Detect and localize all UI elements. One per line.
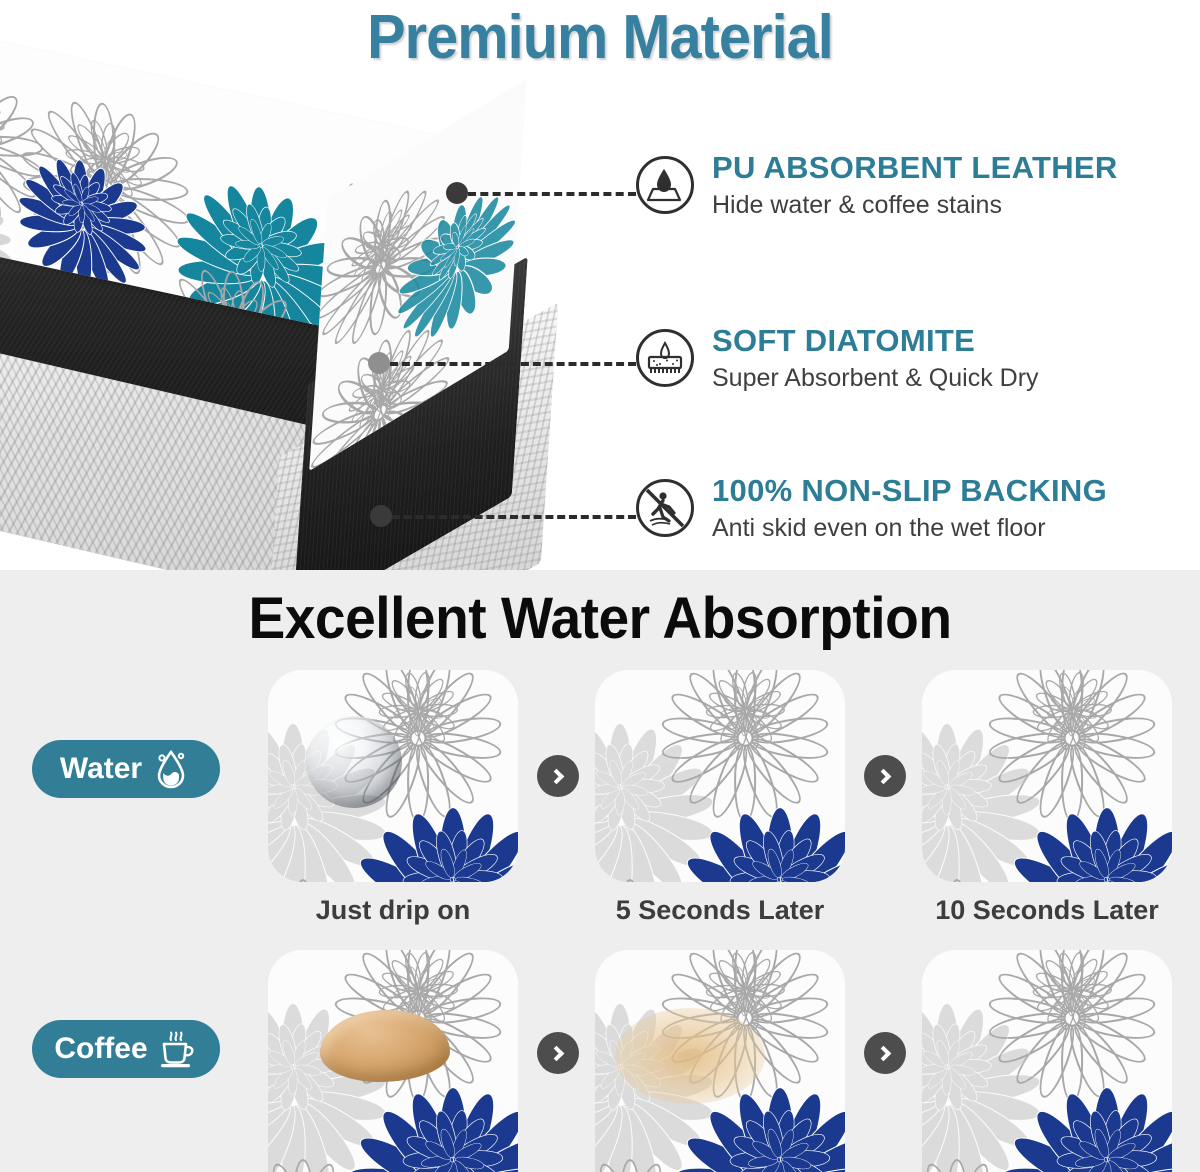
layered-mat-photo xyxy=(0,85,630,550)
water-tile-1 xyxy=(268,670,518,882)
coffee-tile-2 xyxy=(595,950,845,1172)
connector-line-diatomite xyxy=(390,362,636,366)
dahlia-flower xyxy=(673,708,846,883)
water-badge: Water xyxy=(32,740,220,798)
connector-dot-diatomite xyxy=(368,352,390,374)
feature-heading: SOFT DIATOMITE xyxy=(712,325,1039,358)
mat-pattern xyxy=(922,670,1172,882)
coffee-cup-icon xyxy=(156,1028,198,1070)
chevron-right-icon-1 xyxy=(537,755,579,797)
dahlia-flower xyxy=(13,85,147,244)
feature-heading: PU ABSORBENT LEATHER xyxy=(712,152,1118,185)
water-tile-3 xyxy=(922,670,1172,882)
water-badge-label: Water xyxy=(60,754,142,784)
feature-subtitle: Hide water & coffee stains xyxy=(712,192,1118,220)
coffee-badge-label: Coffee xyxy=(54,1034,147,1064)
chevron-right-icon-3 xyxy=(537,1032,579,1074)
connector-dot-backing xyxy=(370,505,392,527)
mat-pattern xyxy=(595,670,845,882)
mat-pattern xyxy=(922,950,1172,1172)
coffee-stain-residue xyxy=(615,1008,765,1104)
premium-material-section: Premium Material PU ABSORBENT LEATHER Hi… xyxy=(0,0,1200,570)
water-drop-on-mat-icon xyxy=(636,156,694,214)
no-slip-person-icon xyxy=(636,479,694,537)
dahlia-flower xyxy=(1000,988,1173,1172)
feature-soft-diatomite: SOFT DIATOMITE Super Absorbent & Quick D… xyxy=(636,325,1039,392)
connector-dot-leather xyxy=(446,182,468,204)
dahlia-flower xyxy=(1000,708,1173,883)
water-absorption-section: Excellent Water Absorption Water Coffee xyxy=(0,570,1200,1172)
water-caption-3: 10 Seconds Later xyxy=(917,895,1177,926)
feature-heading: 100% NON-SLIP BACKING xyxy=(712,475,1107,508)
water-tile-2 xyxy=(595,670,845,882)
water-drop-icon xyxy=(150,748,192,790)
water-caption-2: 5 Seconds Later xyxy=(590,895,850,926)
coffee-badge: Coffee xyxy=(32,1020,220,1078)
chevron-right-icon-2 xyxy=(864,755,906,797)
connector-line-backing xyxy=(392,515,636,519)
connector-line-leather xyxy=(468,192,636,196)
premium-material-title: Premium Material xyxy=(42,2,1158,73)
feature-pu-absorbent-leather: PU ABSORBENT LEATHER Hide water & coffee… xyxy=(636,152,1118,219)
water-bead xyxy=(306,716,402,808)
coffee-tile-1 xyxy=(268,950,518,1172)
absorption-title: Excellent Water Absorption xyxy=(30,585,1170,652)
coffee-tile-3 xyxy=(922,950,1172,1172)
feature-non-slip-backing: 100% NON-SLIP BACKING Anti skid even on … xyxy=(636,475,1107,542)
feature-subtitle: Super Absorbent & Quick Dry xyxy=(712,365,1039,393)
feature-subtitle: Anti skid even on the wet floor xyxy=(712,515,1107,543)
chevron-right-icon-4 xyxy=(864,1032,906,1074)
water-caption-1: Just drip on xyxy=(263,895,523,926)
diatomite-sponge-icon xyxy=(636,329,694,387)
